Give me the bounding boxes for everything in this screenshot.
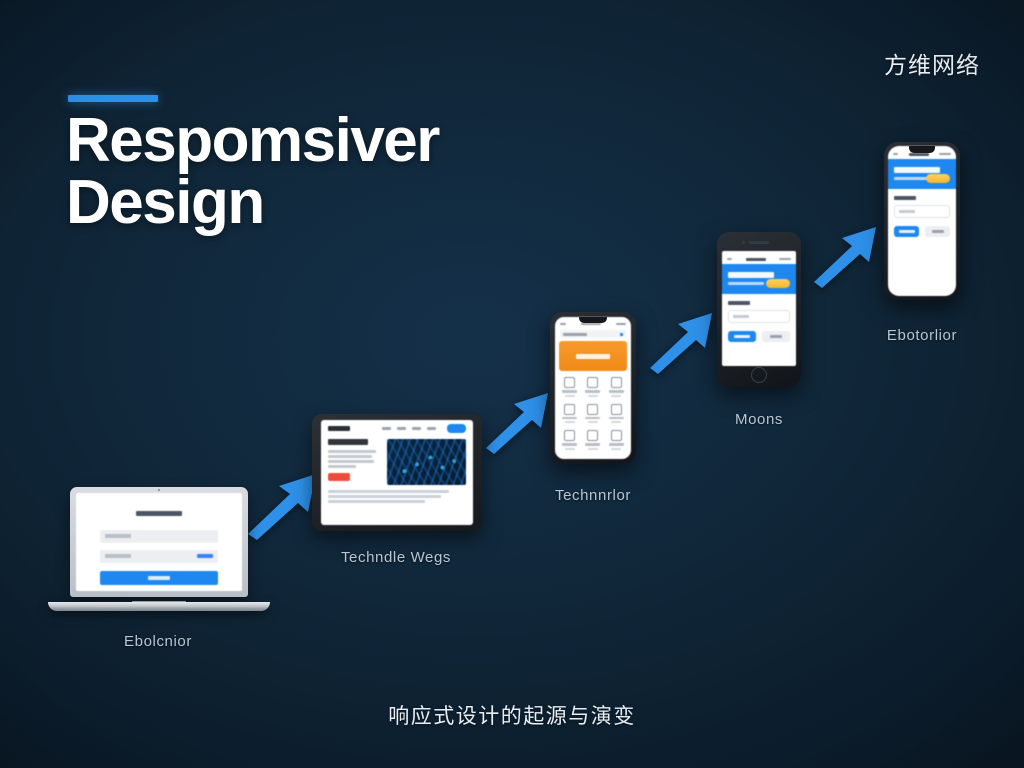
phone3-primary-button[interactable] [894,226,919,237]
phone1-tile[interactable] [605,430,628,450]
brand-logo-text: 方维网络 [884,46,980,80]
laptop-lid [70,487,248,597]
site-logo[interactable] [328,426,350,431]
login-heading [136,511,182,516]
phone1-tile[interactable] [558,377,581,397]
phone2-secondary-button[interactable] [762,331,790,342]
network-nodes-image [387,439,466,485]
slide-canvas: 方维网络 Respomsiver Design [0,0,1024,768]
laptop-screen[interactable] [76,493,242,591]
phone3-hero-button[interactable] [926,174,950,183]
website-preview [321,420,473,525]
phone3-form-input[interactable] [894,205,950,218]
device-label-phone2: Moons [735,411,783,428]
tablet-screen[interactable] [321,420,473,525]
phone1-tile[interactable] [581,404,604,424]
phone1-tile-grid [555,377,631,450]
tile-icon [611,404,622,415]
slide-caption: 响应式设计的起源与演变 [0,700,1024,730]
device-label-phone1: Technnrlor [555,487,631,504]
phone3-form-label [894,196,916,200]
phone1-tile[interactable] [605,404,628,424]
forgot-password-link[interactable] [197,554,213,558]
device-tablet[interactable] [312,414,482,531]
arrow-phone1-to-phone2 [648,308,718,374]
phone1-screen[interactable] [555,317,631,459]
arrow-tablet-to-phone1 [484,388,554,454]
site-footer-text [321,485,473,503]
phone1-promo-banner[interactable] [559,341,627,371]
phone3-form-actions [894,226,950,237]
phone2-form [722,294,796,342]
phone3-notch [909,146,935,153]
phone1-notch [579,317,607,323]
site-nav-links[interactable] [382,424,466,433]
laptop-camera-icon [158,489,160,491]
phone1-search-icon[interactable] [620,333,623,336]
phone3-secondary-button[interactable] [925,226,950,237]
tile-icon [611,430,622,441]
phone1-search-bar[interactable] [560,330,626,338]
device-laptop[interactable] [48,487,270,617]
tile-icon [587,404,598,415]
site-cta-button[interactable] [447,424,466,433]
phone2-hero-button[interactable] [766,279,790,288]
phone1-tile[interactable] [581,430,604,450]
phone2-hero-title [728,272,774,278]
phone1-tile[interactable] [605,377,628,397]
page-title-line-1: Respomsiver [66,106,439,175]
site-hero [321,437,473,485]
phone3-screen[interactable] [888,146,956,296]
phone2-form-actions [728,331,790,342]
device-label-tablet: Techndle Wegs [341,549,451,566]
tile-icon [587,430,598,441]
phone3-hero [888,159,956,189]
phone2-hero [722,264,796,294]
site-hero-button[interactable] [328,473,350,481]
page-title-line-2: Design [66,172,586,234]
phone1-banner-label [576,354,610,359]
phone2-home-button-icon[interactable] [751,367,767,383]
site-navbar [321,420,473,437]
phone1-tile[interactable] [581,377,604,397]
phone2-statusbar [722,251,796,264]
laptop-base [48,602,270,611]
device-phone-notch[interactable] [884,142,960,300]
site-hero-copy [328,439,380,485]
nav-link-1[interactable] [382,427,391,430]
device-phone-home-button[interactable] [717,232,801,387]
phone2-camera-icon [742,241,745,244]
login-password-field[interactable] [100,550,218,563]
page-title: Respomsiver Design [66,110,586,234]
site-hero-heading [328,439,368,445]
nav-link-4[interactable] [427,427,436,430]
phone2-form-input[interactable] [728,310,790,323]
tile-icon [564,377,575,388]
phone2-screen[interactable] [722,251,796,366]
phone2-form-label [728,301,750,305]
login-username-field[interactable] [100,530,218,543]
tile-icon [611,377,622,388]
phone3-hero-subtitle [894,177,930,180]
phone2-input-placeholder [733,315,749,318]
tile-icon [587,377,598,388]
site-hero-paragraph [328,450,380,468]
tile-icon [564,404,575,415]
nav-link-3[interactable] [412,427,421,430]
phone3-input-placeholder [899,210,915,213]
login-submit-label [148,576,170,580]
device-label-phone3: Ebotorlior [887,327,957,344]
device-label-laptop: Ebolcnior [124,633,192,650]
login-submit-button[interactable] [100,571,218,585]
login-username-placeholder [105,534,131,538]
phone3-form [888,189,956,237]
nav-link-2[interactable] [397,427,406,430]
phone3-hero-title [894,167,940,173]
title-accent-bar [68,95,158,102]
device-phone-app-grid[interactable] [550,312,636,464]
arrow-phone2-to-phone3 [812,222,882,288]
phone2-hero-subtitle [728,282,764,285]
phone1-tile[interactable] [558,404,581,424]
phone2-speaker [749,241,769,244]
tile-icon [564,430,575,441]
login-form [76,493,242,591]
phone1-tile[interactable] [558,430,581,450]
login-password-placeholder [105,554,131,558]
phone2-primary-button[interactable] [728,331,756,342]
